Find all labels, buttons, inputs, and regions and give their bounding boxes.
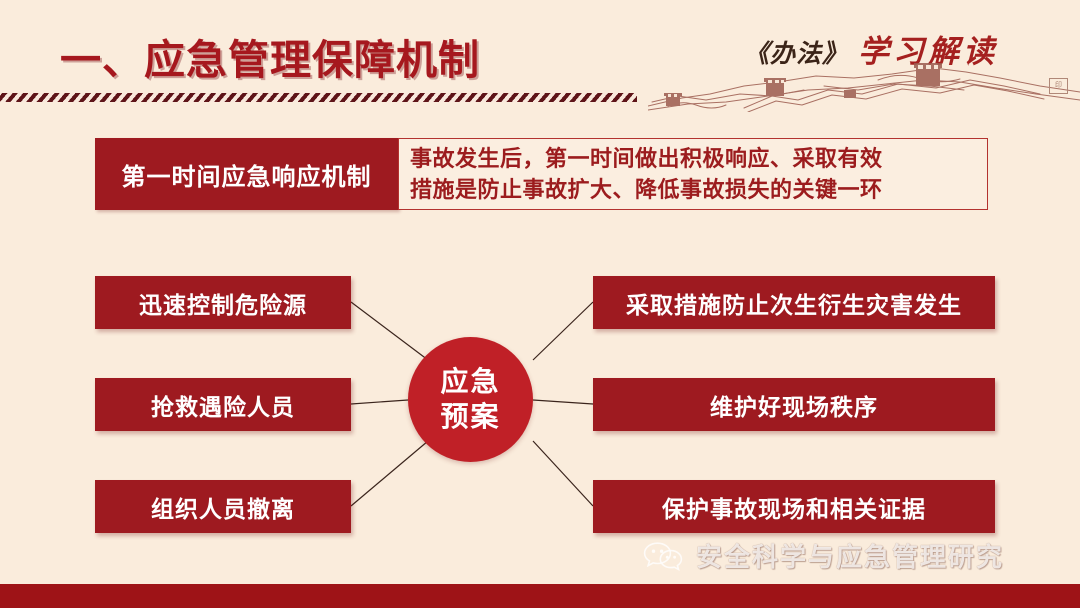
wechat-icon [642,540,684,572]
node-right-3[interactable]: 保护事故现场和相关证据 [593,480,995,533]
watermark-label: 安全科学与应急管理研究 [696,537,1004,574]
connector-right-2 [533,400,593,404]
node-left-1[interactable]: 迅速控制危险源 [95,276,351,329]
seal-stamp: 印 [1049,78,1068,94]
connector-right-3 [533,441,593,506]
callout-row: 第一时间应急响应机制 事故发生后，第一时间做出积极响应、采取有效 措施是防止事故… [95,138,988,210]
callout-body: 事故发生后，第一时间做出积极响应、采取有效 措施是防止事故扩大、降低事故损失的关… [398,138,988,210]
node-left-3[interactable]: 组织人员撤离 [95,480,351,533]
connector-right-1 [533,302,593,360]
connector-left-1 [351,302,428,360]
hub-label-line-2: 预案 [440,400,500,434]
slide-canvas: 一、应急管理保障机制 《办法》 学习解读 [0,0,1080,608]
node-right-2[interactable]: 维护好现场秩序 [593,378,995,431]
callout-body-line-2: 措施是防止事故扩大、降低事故损失的关键一环 [410,174,978,205]
callout-label: 第一时间应急响应机制 [95,138,398,210]
emergency-plan-diagram: 迅速控制危险源 抢救遇险人员 组织人员撤离 采取措施防止次生衍生灾害发生 维护好… [0,255,1080,545]
footer-bar [0,584,1080,608]
hatched-divider [0,93,637,102]
connector-left-3 [351,441,428,506]
hub-label-line-1: 应急 [440,365,500,399]
slide-header: 一、应急管理保障机制 《办法》 学习解读 [0,0,1080,112]
node-left-2[interactable]: 抢救遇险人员 [95,378,351,431]
callout-body-line-1: 事故发生后，第一时间做出积极响应、采取有效 [410,143,978,174]
hub-node-emergency-plan[interactable]: 应急 预案 [408,337,533,462]
footer-watermark: 安全科学与应急管理研究 [642,537,1004,574]
node-right-1[interactable]: 采取措施防止次生衍生灾害发生 [593,276,995,329]
connector-left-2 [351,400,408,404]
great-wall-illustration [648,56,1080,112]
page-title: 一、应急管理保障机制 [60,26,480,86]
